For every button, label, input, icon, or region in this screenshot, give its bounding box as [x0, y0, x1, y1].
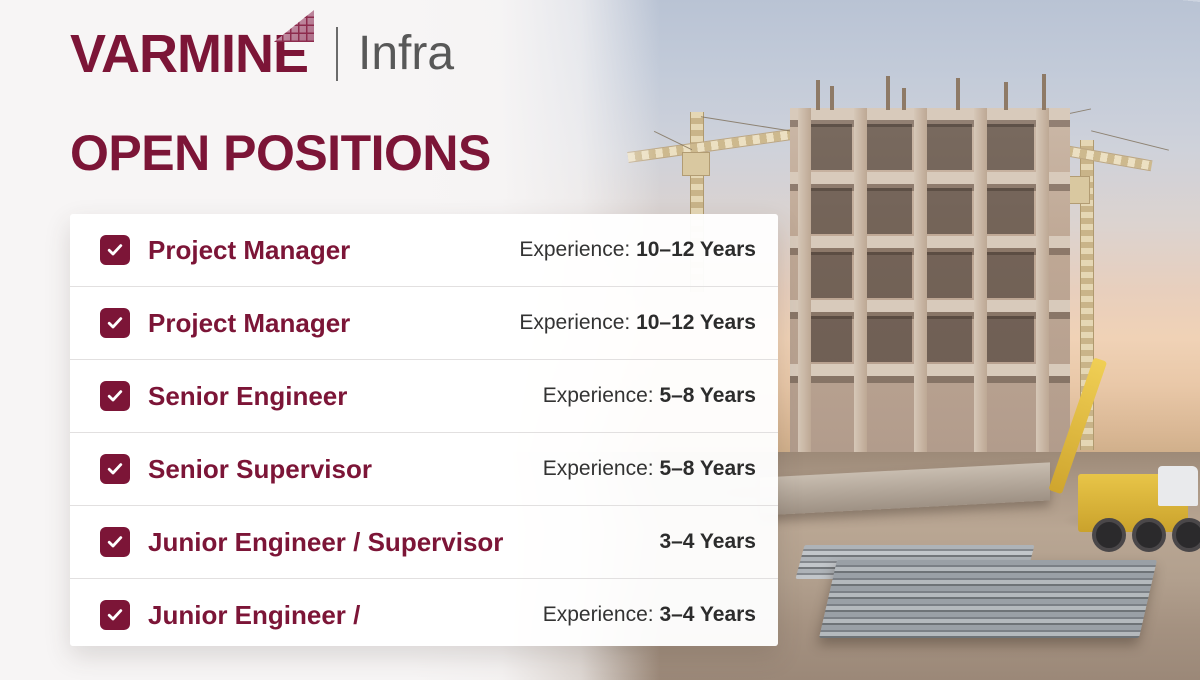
- experience-value: 10–12 Years: [636, 311, 756, 334]
- crane-wheel: [1172, 518, 1200, 552]
- experience-value: 10–12 Years: [636, 238, 756, 261]
- position-row[interactable]: Project Manager Experience: 10–12 Years: [70, 214, 778, 287]
- position-title: Junior Engineer /: [148, 600, 360, 631]
- position-title: Project Manager: [148, 308, 350, 339]
- position-row[interactable]: Junior Engineer / Experience: 3–4 Years: [70, 579, 778, 646]
- experience-value: 3–4 Years: [659, 530, 756, 553]
- brand-subname: Infra: [358, 30, 454, 78]
- experience-value: 5–8 Years: [659, 457, 756, 480]
- position-row[interactable]: Junior Engineer / Supervisor 3–4 Years: [70, 506, 778, 579]
- steel-pipe-stack: [819, 560, 1157, 638]
- checkbox-checked-icon[interactable]: [100, 235, 130, 265]
- position-row[interactable]: Project Manager Experience: 10–12 Years: [70, 287, 778, 360]
- position-experience: Experience: 5–8 Years: [543, 384, 778, 408]
- experience-label: Experience:: [543, 603, 660, 626]
- experience-label: Experience:: [519, 311, 636, 334]
- position-row[interactable]: Senior Supervisor Experience: 5–8 Years: [70, 433, 778, 506]
- experience-label: Experience:: [543, 457, 660, 480]
- page-title: OPEN POSITIONS: [70, 128, 491, 178]
- tower-crane-cab-left: [682, 152, 710, 176]
- position-experience: Experience: 5–8 Years: [543, 457, 778, 481]
- checkbox-checked-icon[interactable]: [100, 308, 130, 338]
- open-positions-card: Project Manager Experience: 10–12 Years …: [70, 214, 778, 646]
- position-experience: Experience: 10–12 Years: [519, 238, 778, 262]
- position-title: Junior Engineer / Supervisor: [148, 527, 503, 558]
- logo-divider: [336, 27, 338, 81]
- mobile-crane-cab: [1158, 466, 1198, 506]
- position-row[interactable]: Senior Engineer Experience: 5–8 Years: [70, 360, 778, 433]
- crane-wheel: [1092, 518, 1126, 552]
- checkbox-checked-icon[interactable]: [100, 527, 130, 557]
- brand-wordmark: VARMINE: [70, 27, 308, 81]
- experience-value: 3–4 Years: [659, 603, 756, 626]
- position-title: Senior Supervisor: [148, 454, 372, 485]
- checkbox-checked-icon[interactable]: [100, 600, 130, 630]
- brand-name: VARMINE: [70, 27, 308, 81]
- brand-logo: VARMINE Infra: [70, 22, 454, 86]
- position-experience: Experience: 3–4 Years: [543, 603, 778, 627]
- experience-label: Experience:: [543, 384, 660, 407]
- position-experience: 3–4 Years: [659, 530, 778, 554]
- crane-wheel: [1132, 518, 1166, 552]
- experience-label: Experience:: [519, 238, 636, 261]
- position-title: Project Manager: [148, 235, 350, 266]
- checkbox-checked-icon[interactable]: [100, 381, 130, 411]
- experience-value: 5–8 Years: [659, 384, 756, 407]
- position-title: Senior Engineer: [148, 381, 347, 412]
- building-under-construction: [790, 108, 1070, 453]
- checkbox-checked-icon[interactable]: [100, 454, 130, 484]
- poster-canvas: VARMINE Infra OPEN POSITIONS Project Man…: [0, 0, 1200, 680]
- position-experience: Experience: 10–12 Years: [519, 311, 778, 335]
